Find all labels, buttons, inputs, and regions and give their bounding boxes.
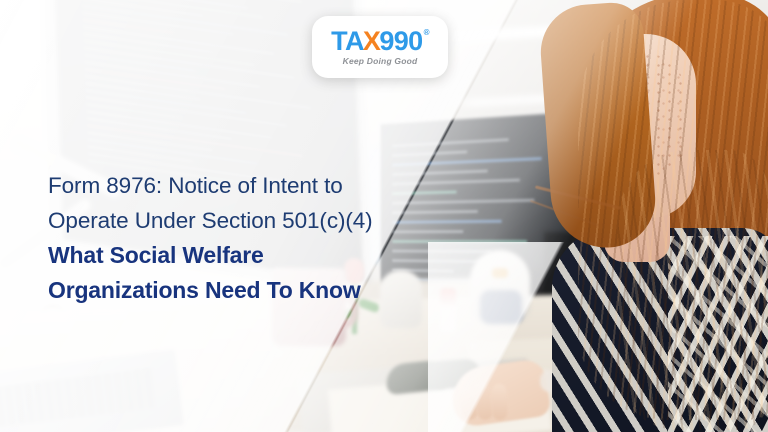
logo-text-x: X [363,28,380,55]
logo-text-990: 990 [379,28,422,55]
headline-line-4: Organizations Need To Know [48,273,468,308]
logo-badge[interactable]: TA X 990 ® Keep Doing Good [312,16,448,78]
headline-line-3: What Social Welfare [48,238,468,273]
logo-wordmark: TA X 990 ® [331,28,429,55]
hair-strands [618,150,768,430]
headline-line-1: Form 8976: Notice of Intent to [48,168,468,203]
plush-toy-body [480,290,522,324]
plush-toy-beak [492,268,508,278]
logo-text-ta: TA [331,28,364,55]
headline-block: Form 8976: Notice of Intent to Operate U… [48,168,468,308]
logo-tagline: Keep Doing Good [343,56,418,66]
blog-banner: TA X 990 ® Keep Doing Good Form 8976: No… [0,0,768,432]
finger [491,384,507,421]
registered-trademark-icon: ® [424,29,429,37]
person-photo [518,0,768,432]
headline-line-2: Operate Under Section 501(c)(4) [48,203,468,238]
